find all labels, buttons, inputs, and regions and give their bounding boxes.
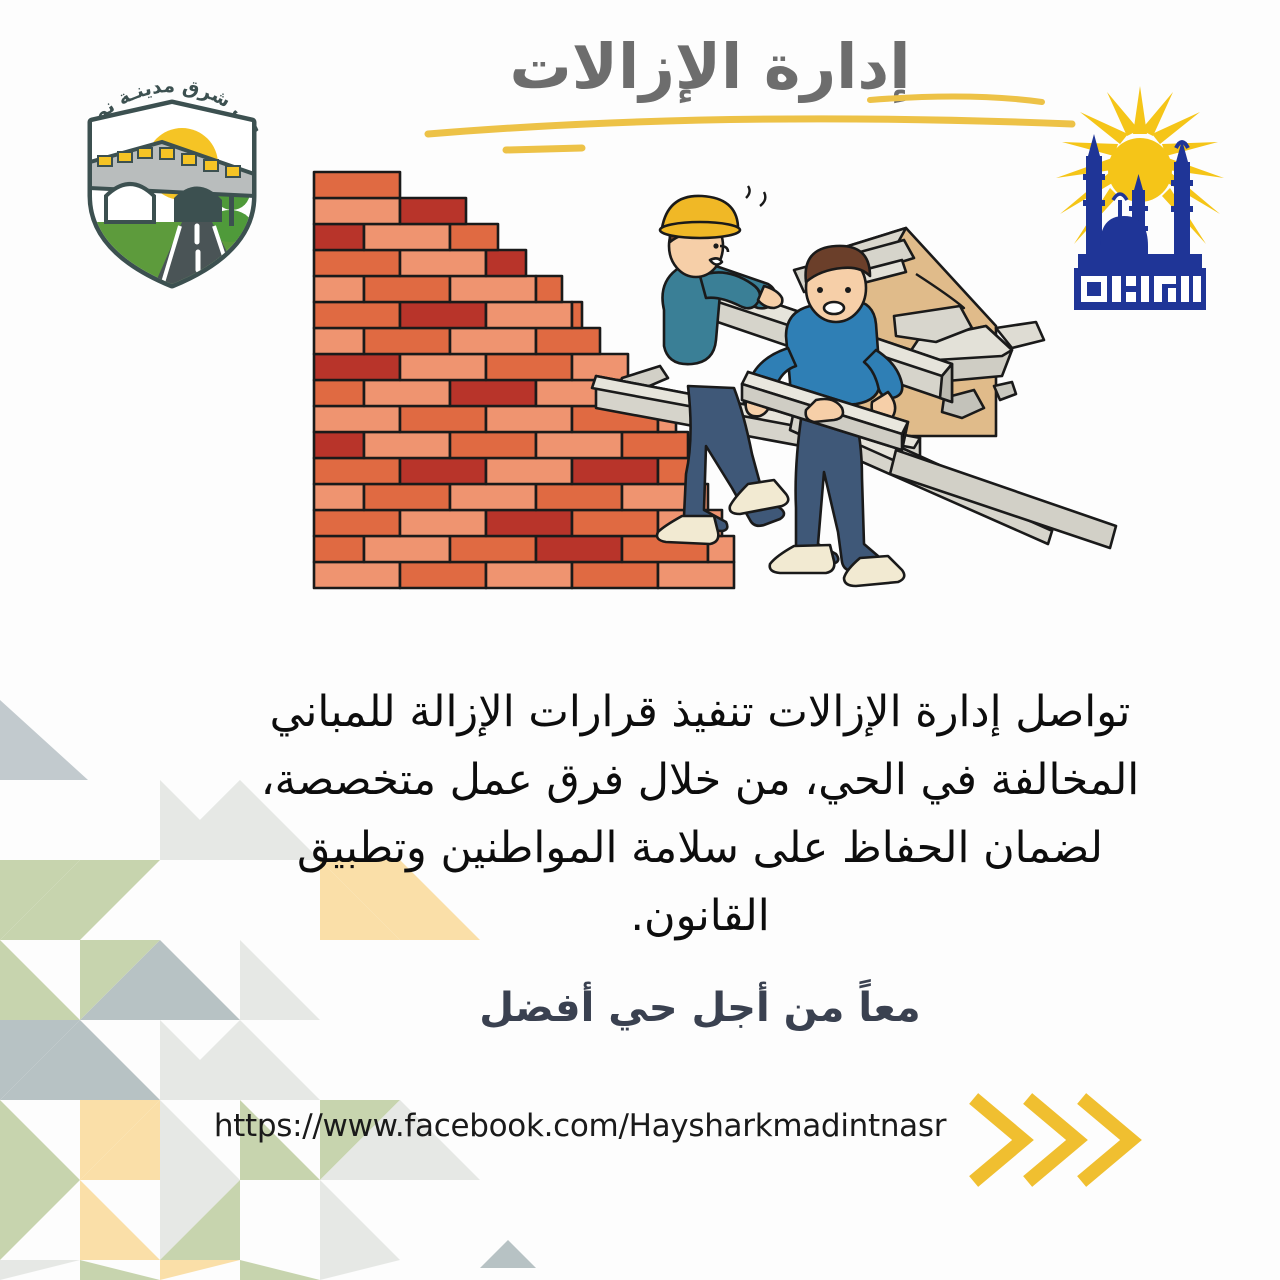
demolition-workers-illustration	[296, 150, 1176, 590]
slogan-text: معاً من أجل حي أفضل	[340, 985, 1060, 1031]
hay-shark-madinat-nasr-logo: حي شرق مدينـة نصر	[62, 46, 282, 296]
facebook-url[interactable]: https://www.facebook.com/Haysharkmadintn…	[160, 1108, 1000, 1144]
body-paragraph: تواصل إدارة الإزالات تنفيذ قرارات الإزال…	[240, 679, 1160, 951]
poster-canvas: حي شرق مدينـة نصر	[0, 0, 1280, 1280]
page-title-block: إدارة الإزالات	[330, 36, 1090, 166]
triple-chevron-right-icon	[965, 1085, 1155, 1195]
